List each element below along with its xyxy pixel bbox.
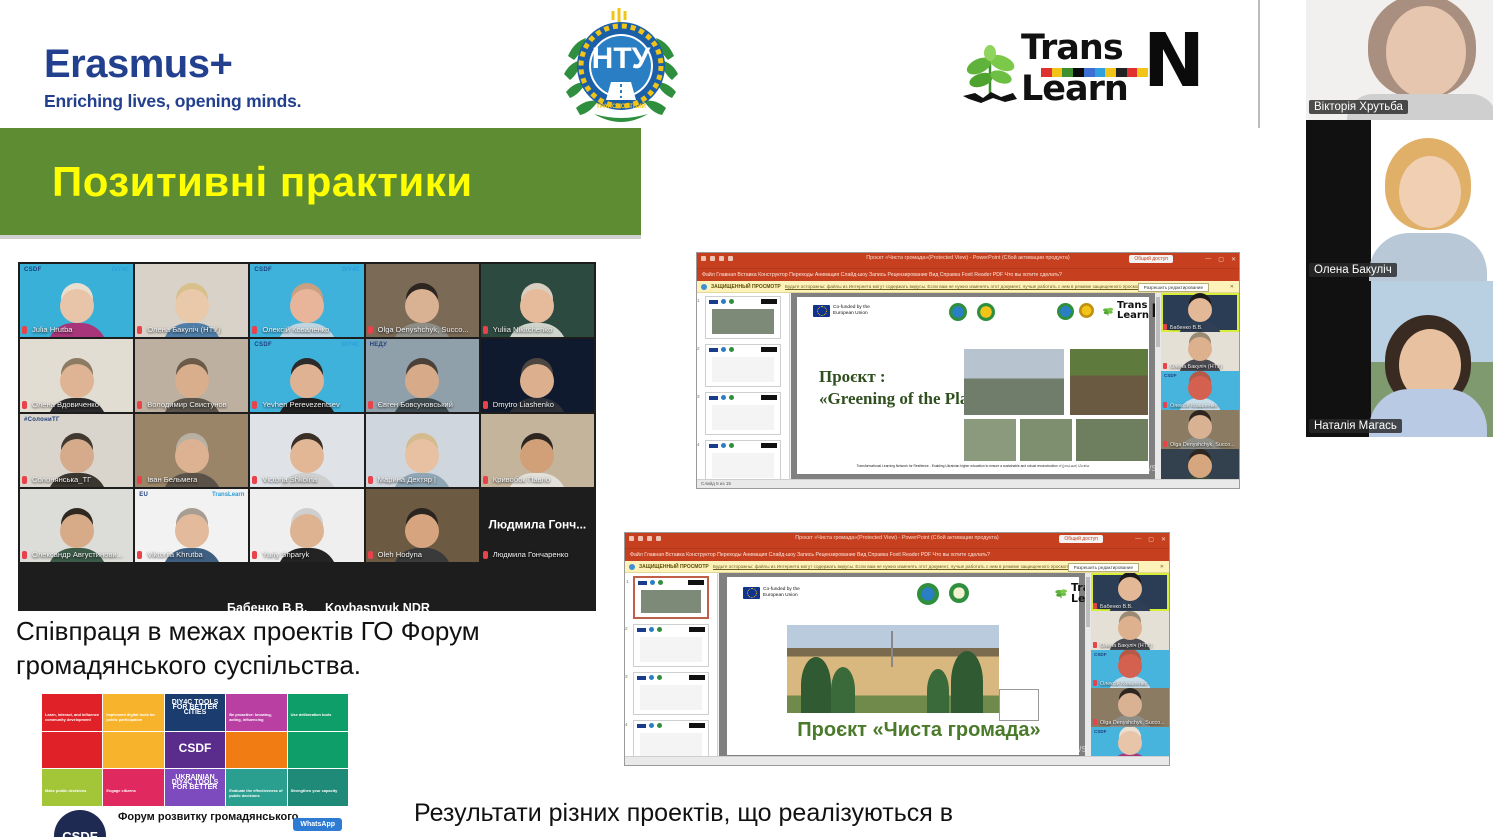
zoom-tile-avatar xyxy=(60,439,94,473)
zoom-tile-avatar xyxy=(290,289,324,323)
zoom-footer-name-left: Бабенко В.В. xyxy=(227,601,307,611)
participant-rail[interactable]: Вікторія ХрутьбаОлена БакулічНаталія Маг… xyxy=(1306,0,1493,837)
building-photo-bottom xyxy=(787,625,999,713)
window-controls-bottom[interactable]: —▢✕ xyxy=(1135,536,1166,543)
page-title: Позитивні практики xyxy=(52,158,473,206)
banner-shadow xyxy=(0,235,641,239)
poster-cell xyxy=(42,732,102,769)
sprout-icon-mini xyxy=(1101,303,1115,319)
zoom-tile-badge: #СолониТГ xyxy=(24,417,60,423)
zoom-tile[interactable]: Olga Denyshchyk, Succo... xyxy=(366,264,479,337)
eu-flag-icon xyxy=(813,305,830,317)
zoom-tile[interactable]: Людмила Гонч...Людмила Гончаренко xyxy=(481,489,594,562)
zoom-tile[interactable]: Володимир Свистунов xyxy=(135,339,248,412)
slide-thumbnail-number: 3 xyxy=(625,674,628,679)
csdf-logo-circle: CSDF xyxy=(54,810,106,837)
zoom-tile[interactable]: Іван Бельмега xyxy=(135,414,248,487)
maximize-icon-bottom[interactable]: ▢ xyxy=(1148,536,1154,543)
zoom-tile-badge-secondary: DIY4C xyxy=(342,267,360,273)
poster-cell: Strengthen your capacity xyxy=(288,769,348,806)
zoom-tile-name: Viktoriia Khrutba xyxy=(138,550,245,560)
csdf-poster: Learn, interact, and influence community… xyxy=(36,692,354,837)
shield-icon-bottom xyxy=(629,564,635,570)
slide-view-top[interactable]: Co-funded by the European Union xyxy=(791,293,1161,488)
zoom-tile-name: Dmytro Liashenko xyxy=(484,400,591,410)
poster-cell: Implement digital tools for public parti… xyxy=(103,694,163,731)
zoom-tile-avatar xyxy=(60,289,94,323)
zoom-participant-grid[interactable]: CSDFDIY4CJulia HrutbaОлена Бакуліч (НТУ)… xyxy=(18,262,596,611)
eu-line-2: European Union xyxy=(833,311,868,316)
ppt-video-name: Olga Denyshchyk, Succo... xyxy=(1163,442,1237,448)
powerpoint-window-bottom[interactable]: Проєкт «Чиста громада»(Protected View) -… xyxy=(624,532,1170,766)
zoom-tile-name: Yevhen Perevezentsev xyxy=(253,400,360,410)
partner-emblem-3 xyxy=(1057,303,1074,320)
slide-thumbnail[interactable]: 1 xyxy=(705,296,781,339)
maximize-icon[interactable]: ▢ xyxy=(1218,256,1224,263)
share-button[interactable]: Общий доступ xyxy=(1129,255,1173,263)
zoom-tile-name: Олександр Августинови... xyxy=(23,550,130,560)
zoom-tile-avatar xyxy=(405,439,439,473)
ppt-video-rail-top[interactable]: Бабенко В.В.Олена Бакуліч (НТУ)CSDFОлекс… xyxy=(1161,293,1239,488)
ppt-video-tile[interactable]: Олена Бакуліч (НТУ) xyxy=(1091,611,1169,649)
slide-thumbnail-number: 2 xyxy=(697,346,700,351)
slide-photo-5 xyxy=(1076,419,1148,461)
poster-cell: Evaluate the effectiveness of public dec… xyxy=(226,769,286,806)
zoom-tile-avatar xyxy=(405,364,439,398)
protected-view-banner-bottom[interactable]: ЗАЩИЩЕННЫЙ ПРОСМОТР Будьте осторожны: фа… xyxy=(625,561,1169,573)
ppt-video-tile[interactable]: Olga Denyshchyk, Succo... xyxy=(1161,410,1239,449)
slide-thumbnail-number: 1 xyxy=(626,579,629,584)
eu-line-2-bottom: European Union xyxy=(763,593,798,598)
zoom-tile-name: Julia Hrutba xyxy=(23,325,130,335)
poster-cell: CSDF xyxy=(165,732,225,769)
zoom-tile-name: Olga Denyshchyk, Succo... xyxy=(369,325,476,335)
ppt-video-avatar xyxy=(1188,298,1212,322)
caption-left: Співпраця в межах проектів ГО Форум гром… xyxy=(16,614,616,683)
ppt-menu-bar[interactable]: Файл Главная Вставка Конструктор Переход… xyxy=(697,268,1239,281)
zoom-tile[interactable]: Dmytro Liashenko xyxy=(481,339,594,412)
zoom-tile-avatar xyxy=(405,514,439,548)
eu-funding-text: Co-funded by the European Union xyxy=(833,305,870,317)
poster-cell: Use deliberation tools xyxy=(288,694,348,731)
protected-view-text: Будьте осторожны: файлы из Интернета мог… xyxy=(785,284,1147,289)
poster-cell-text: Evaluate the effectiveness of public dec… xyxy=(229,788,283,798)
ppt-video-name: Олексій Коваленко xyxy=(1093,681,1167,687)
poster-cell-text: Engage citizens xyxy=(106,788,160,793)
ppt-title-bar-bottom[interactable]: Проєкт «Чиста громада»(Protected View) -… xyxy=(625,533,1169,548)
slide-photo-2 xyxy=(1070,349,1148,415)
ppt-menu-items[interactable]: Файл Главная Вставка Конструктор Переход… xyxy=(702,272,1062,278)
rail-video-tile[interactable]: Наталія Магась xyxy=(1306,281,1493,437)
eu-line-1-bottom: Co-funded by the xyxy=(763,587,800,592)
enable-editing-button[interactable]: Разрешить редактирование xyxy=(1138,283,1209,292)
zoom-tile-avatar xyxy=(405,289,439,323)
zoom-tile-name: Олена Бакуліч (НТУ) xyxy=(138,325,245,335)
zoom-tile[interactable]: НЕДУЄвген Бовсуновський xyxy=(366,339,479,412)
ppt-video-tile[interactable]: CSDFОлексій Коваленко xyxy=(1161,371,1239,410)
ppt-video-tile[interactable]: CSDFОлексій Коваленко xyxy=(1091,650,1169,688)
slide-thumbnail-header xyxy=(637,675,705,680)
zoom-tile-badge: CSDF xyxy=(254,267,272,273)
zoom-tile-name: Victoria Shkolna xyxy=(253,475,360,485)
zoom-tile-name: Oleh Hodyna xyxy=(369,550,476,560)
poster-cell-text: Learn, interact, and influence community… xyxy=(45,712,99,722)
translearn-wordmark: Trans Learn N xyxy=(1021,28,1193,113)
ntu-emblem-svg: НТУ ТРАНСПОРТНИЙ xyxy=(556,4,686,124)
ppt-video-avatar xyxy=(1188,415,1212,439)
poster-color-grid: Learn, interact, and influence community… xyxy=(42,694,348,806)
caption-bottom: Результати різних проектів, що реалізуют… xyxy=(414,798,1274,828)
eu-funding-text-bottom: Co-funded by the European Union xyxy=(763,587,800,599)
slide-thumbnail-number: 4 xyxy=(625,722,628,727)
translearn-letter-n: N xyxy=(1143,24,1205,98)
zoom-tile-badge-secondary: DIY4C xyxy=(112,267,130,273)
zoom-tile[interactable]: Yuliia Nikitchenko xyxy=(481,264,594,337)
zoom-tile-avatar xyxy=(290,439,324,473)
slide-title-bottom: Проєкт «Чиста громада» xyxy=(779,719,1059,742)
slide-thumbnail-header xyxy=(709,299,777,304)
ppt-video-badge: CSDF xyxy=(1094,652,1107,657)
protected-view-label-bottom: ЗАЩИЩЕННЫЙ ПРОСМОТР xyxy=(639,564,709,570)
partner-emblem-region-bottom xyxy=(949,583,969,603)
erasmus-logo: Erasmus+ Enriching lives, opening minds. xyxy=(44,44,304,112)
zoom-tile-badge-secondary: DIY4C xyxy=(342,342,360,348)
translearn-word-trans: Trans xyxy=(1021,30,1123,66)
ppt-video-avatar xyxy=(1188,454,1212,478)
eu-flag-icon-bottom xyxy=(743,587,760,599)
zoom-tile[interactable]: Олена Вдовиченко xyxy=(20,339,133,412)
ppt-video-avatar xyxy=(1118,693,1142,717)
zoom-tile-avatar xyxy=(60,364,94,398)
zoom-tile[interactable]: EUTransLearnViktoriia Khrutba xyxy=(135,489,248,562)
ppt-video-avatar xyxy=(1188,337,1212,361)
quick-access-toolbar-bottom[interactable] xyxy=(629,536,661,541)
zoom-tile-avatar xyxy=(290,364,324,398)
zoom-tile[interactable]: Олександр Августинови... xyxy=(20,489,133,562)
poster-title: Форум розвитку громадянського xyxy=(118,810,298,824)
banner-close-icon[interactable]: ✕ xyxy=(1230,284,1234,290)
slide-counter-top: Слайд 5 из 15 xyxy=(701,481,731,486)
zoom-tile-avatar xyxy=(175,364,209,398)
poster-cell-text: Strengthen your capacity xyxy=(291,788,345,793)
slide-thumbnail-header xyxy=(709,443,777,448)
rail-avatar-face xyxy=(1399,156,1461,228)
zoom-tile-avatar xyxy=(520,364,554,398)
sprout-icon xyxy=(955,36,1025,106)
zoom-tile-avatar xyxy=(175,514,209,548)
ppt-menu-items-bottom[interactable]: Файл Главная Вставка Конструктор Переход… xyxy=(630,552,990,558)
poster-cell: Make public decisions xyxy=(42,769,102,806)
slide-view-bottom[interactable]: Co-funded by the European Union xyxy=(719,573,1091,765)
zoom-tile[interactable]: Олена Бакуліч (НТУ) xyxy=(135,264,248,337)
partner-emblem-ntu-bottom xyxy=(917,583,939,605)
poster-cell-text: Be proactive: knowing, acting, influenci… xyxy=(229,712,283,722)
poster-cell-text: Make public decisions xyxy=(45,788,99,793)
partner-emblem-4 xyxy=(1079,303,1094,318)
poster-cell xyxy=(103,732,163,769)
slide-thumbnail-number: 4 xyxy=(697,442,700,447)
ppt-video-name: Бабенко В.В. xyxy=(1163,325,1237,331)
sprout-icon-mini-bottom xyxy=(1053,584,1069,602)
ppt-video-rail-bottom[interactable]: Бабенко В.В.Олена Бакуліч (НТУ)CSDFОлекс… xyxy=(1091,573,1169,765)
header-divider xyxy=(1258,0,1260,128)
ppt-video-tile[interactable]: Olga Denyshchyk, Succo... xyxy=(1091,688,1169,726)
ppt-video-avatar xyxy=(1118,654,1142,678)
ppt-window-title-bottom: Проєкт «Чиста громада»(Protected View) -… xyxy=(795,535,998,541)
zoom-grid-footer: Бабенко В.В.Kovbasnyuk NDR xyxy=(20,564,594,611)
ppt-video-name: Олена Бакуліч (НТУ) xyxy=(1093,643,1167,649)
slide-thumbnail-header xyxy=(709,395,777,400)
slide-thumbnail[interactable]: 4 xyxy=(705,440,781,483)
translearn-logo: Trans Learn N xyxy=(955,28,1195,113)
translearn-word-learn: Learn xyxy=(1021,71,1128,107)
quick-access-toolbar[interactable] xyxy=(701,256,733,261)
zoom-tile-name: Солонянська_ТГ xyxy=(23,475,130,485)
zoom-tile-avatar xyxy=(520,439,554,473)
zoom-tile-bigname: Людмила Гонч... xyxy=(481,517,594,531)
zoom-tile-name: Людмила Гончаренко xyxy=(484,550,591,560)
enable-editing-button-bottom[interactable]: Разрешить редактирование xyxy=(1068,563,1139,572)
poster-cell xyxy=(288,732,348,769)
window-controls[interactable]: —▢✕ xyxy=(1205,256,1236,263)
ppt-video-name: Олена Бакуліч (НТУ) xyxy=(1163,364,1237,370)
zoom-footer-name-right: Kovbasnyuk NDR xyxy=(325,601,430,611)
shield-icon xyxy=(701,284,707,290)
powerpoint-window-top[interactable]: Проєкт «Чиста громада»(Protected View) -… xyxy=(696,252,1240,489)
ppt-title-bar[interactable]: Проєкт «Чиста громада»(Protected View) -… xyxy=(697,253,1239,268)
svg-text:НТУ: НТУ xyxy=(592,42,651,75)
zoom-tile[interactable]: CSDFDIY4CОлексій Коваленко xyxy=(250,264,363,337)
zoom-tile[interactable]: Yuriy Shparyk xyxy=(250,489,363,562)
slide-surface-bottom: Co-funded by the European Union xyxy=(727,577,1079,755)
zoom-tile[interactable]: Марина Дехтяр | xyxy=(366,414,479,487)
poster-cell-text: Implement digital tools for public parti… xyxy=(106,712,160,722)
slide-thumbnail-header xyxy=(638,580,704,585)
slide-thumbnail[interactable]: 3 xyxy=(705,392,781,435)
slide-photo-4 xyxy=(1020,419,1072,461)
rail-avatar-face xyxy=(1386,6,1466,98)
ppt-video-tile[interactable]: Олена Бакуліч (НТУ) xyxy=(1161,332,1239,371)
zoom-tile[interactable]: Oleh Hodyna xyxy=(366,489,479,562)
partner-emblem-2 xyxy=(977,303,995,321)
zoom-tile-avatar xyxy=(520,289,554,323)
slide-thumbnail-header xyxy=(637,723,705,728)
whatsapp-button[interactable]: WhatsApp xyxy=(293,818,342,831)
slide-thumbnail[interactable]: 2 xyxy=(633,624,709,667)
partner-emblem-1 xyxy=(949,303,967,321)
slide-photo-3 xyxy=(964,419,1016,461)
close-icon[interactable]: ✕ xyxy=(1231,256,1236,263)
ppt-video-name: Олексій Коваленко xyxy=(1163,403,1237,409)
zoom-tile-badge-secondary: TransLearn xyxy=(212,492,244,498)
poster-cell-text: CSDF xyxy=(168,746,222,751)
rail-video-tile[interactable]: Вікторія Хрутьба xyxy=(1306,0,1493,120)
slide-thumbnail-number: 3 xyxy=(697,394,700,399)
zoom-tile-avatar xyxy=(60,514,94,548)
poster-cell-text: UKRAINIAN DIY4C TOOLS FOR BETTER xyxy=(165,769,225,790)
zoom-tile-name: Кривобок Павло xyxy=(484,475,591,485)
zoom-tile-avatar xyxy=(290,514,324,548)
poster-cell xyxy=(226,732,286,769)
poster-cell: Learn, interact, and influence community… xyxy=(42,694,102,731)
zoom-tile-name: Іван Бельмега xyxy=(138,475,245,485)
zoom-tile[interactable]: Кривобок Павло xyxy=(481,414,594,487)
zoom-tile-avatar xyxy=(175,439,209,473)
zoom-tile-name: Марина Дехтяр | xyxy=(369,475,476,485)
mini-learn: Learn xyxy=(1117,311,1149,321)
ntu-emblem: НТУ ТРАНСПОРТНИЙ xyxy=(556,4,686,124)
slide-thumbnail-number: 1 xyxy=(697,298,700,303)
zoom-tile-name: Yuriy Shparyk xyxy=(253,550,360,560)
poster-cell: UKRAINIAN DIY4C TOOLS FOR BETTER xyxy=(165,769,225,806)
rail-video-tile[interactable]: Олена Бакуліч xyxy=(1306,120,1493,281)
ppt-status-bar-bottom xyxy=(625,756,1169,765)
minimize-icon-bottom[interactable]: — xyxy=(1135,536,1141,543)
ppt-video-avatar xyxy=(1188,376,1212,400)
eu-line-1: Co-funded by the xyxy=(833,305,870,310)
poster-cell: Engage citizens xyxy=(103,769,163,806)
slide-thumbnail[interactable]: 3 xyxy=(633,672,709,715)
ppt-video-avatar xyxy=(1118,577,1142,601)
slide-thumbnail-number: 2 xyxy=(625,626,628,631)
zoom-tile[interactable]: Victoria Shkolna xyxy=(250,414,363,487)
zoom-tile-name: Олексій Коваленко xyxy=(253,325,360,335)
ppt-status-bar-top: Слайд 5 из 15 xyxy=(697,479,1239,488)
rail-video-name: Олена Бакуліч xyxy=(1309,263,1397,277)
ppt-video-badge: CSDF xyxy=(1094,729,1107,734)
rail-video-name: Вікторія Хрутьба xyxy=(1309,100,1408,114)
zoom-tile-badge: CSDF xyxy=(254,342,272,348)
poster-cell-text: DIY4C TOOLS FOR BETTER CITIES xyxy=(165,694,225,715)
zoom-tile-badge: CSDF xyxy=(24,267,42,273)
zoom-tile-badge: НЕДУ xyxy=(370,342,388,348)
close-icon-bottom[interactable]: ✕ xyxy=(1161,536,1166,543)
zoom-tile-avatar xyxy=(175,289,209,323)
slide-canvas: Erasmus+ Enriching lives, opening minds. xyxy=(0,0,1270,837)
ppt-video-tile[interactable]: Бабенко В.В. xyxy=(1161,293,1239,332)
ppt-video-tile[interactable]: Бабенко В.В. xyxy=(1091,573,1169,611)
slide-thumbnail-pane-bottom[interactable]: 123456 xyxy=(625,573,718,765)
erasmus-tagline: Enriching lives, opening minds. xyxy=(44,91,304,112)
ppt-body-top: 123456 Co-funded by the European Union xyxy=(697,293,1239,488)
slide-thumbnail-header xyxy=(709,347,777,352)
banner-close-icon-bottom[interactable]: ✕ xyxy=(1160,564,1164,570)
minimize-icon[interactable]: — xyxy=(1205,256,1211,263)
ppt-window-title: Проєкт «Чиста громада»(Protected View) -… xyxy=(866,255,1069,261)
ppt-video-name: Olga Denyshchyk, Succo... xyxy=(1093,720,1167,726)
ppt-body-bottom: 123456 Co-funded by the European Union xyxy=(625,573,1169,765)
share-button-bottom[interactable]: Общий доступ xyxy=(1059,535,1103,543)
slide-thumbnail-pane[interactable]: 123456 xyxy=(697,293,790,488)
slide-thumbnail[interactable]: 2 xyxy=(705,344,781,387)
eu-funding-logo-top: Co-funded by the European Union xyxy=(813,305,870,317)
ppt-video-avatar xyxy=(1118,616,1142,640)
slide-title-line1-top: Проєкт : xyxy=(819,367,886,387)
ppt-video-badge: CSDF xyxy=(1164,373,1177,378)
zoom-tile[interactable]: #СолониТГСолонянська_ТГ xyxy=(20,414,133,487)
eu-funding-logo-bottom: Co-funded by the European Union xyxy=(743,587,800,599)
erasmus-wordmark: Erasmus+ xyxy=(44,44,304,84)
svg-text:ТРАНСПОРТНИЙ: ТРАНСПОРТНИЙ xyxy=(596,102,646,110)
presentation-screen: Erasmus+ Enriching lives, opening minds. xyxy=(0,0,1493,837)
protected-view-label: ЗАЩИЩЕННЫЙ ПРОСМОТР xyxy=(711,284,781,290)
poster-cell-text: Use deliberation tools xyxy=(291,712,345,717)
zoom-tile-name: Олена Вдовиченко xyxy=(23,400,130,410)
rail-video-name: Наталія Магась xyxy=(1309,419,1402,433)
protected-view-text-bottom: Будьте осторожны: файлы из Интернета мог… xyxy=(713,564,1075,569)
slide-title-banner: Позитивні практики xyxy=(0,128,641,235)
zoom-tile[interactable]: CSDFDIY4CJulia Hrutba xyxy=(20,264,133,337)
slide-footer-top: Transformational Learning Network for Re… xyxy=(811,464,1135,468)
zoom-tile-name: Yuliia Nikitchenko xyxy=(484,325,591,335)
zoom-tile-name: Євген Бовсуновський xyxy=(369,400,476,410)
zoom-tile-badge: EU xyxy=(139,492,148,498)
poster-footer: CSDF Форум розвитку громадянського Whats… xyxy=(42,808,348,837)
zoom-tile-name: Володимир Свистунов xyxy=(138,400,245,410)
slide-surface-top: Co-funded by the European Union xyxy=(797,297,1149,474)
ppt-video-name: Бабенко В.В. xyxy=(1093,604,1167,610)
ppt-video-avatar xyxy=(1118,731,1142,755)
slide-thumbnail-header xyxy=(637,627,705,632)
poster-cell: DIY4C TOOLS FOR BETTER CITIES xyxy=(165,694,225,731)
protected-view-banner[interactable]: ЗАЩИЩЕННЫЙ ПРОСМОТР Будьте осторожны: фа… xyxy=(697,281,1239,293)
ppt-menu-bar-bottom[interactable]: Файл Главная Вставка Конструктор Переход… xyxy=(625,548,1169,561)
slide-thumbnail[interactable]: 1 xyxy=(633,576,709,619)
translearn-mini-words: Trans Learn xyxy=(1117,301,1149,321)
poster-cell: Be proactive: knowing, acting, influenci… xyxy=(226,694,286,731)
slide-photo-1 xyxy=(964,349,1064,415)
zoom-tile[interactable]: CSDFDIY4CYevhen Perevezentsev xyxy=(250,339,363,412)
